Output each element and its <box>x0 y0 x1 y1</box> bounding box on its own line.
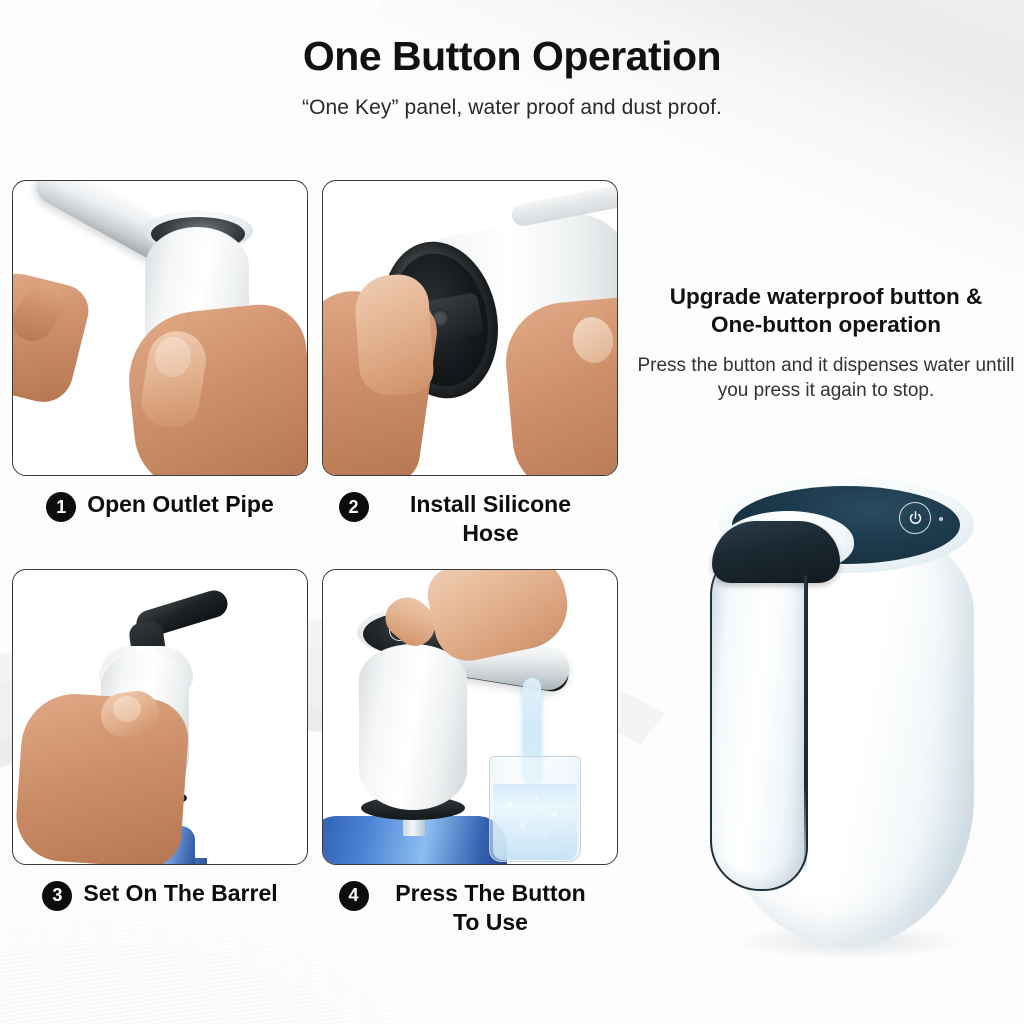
page-subtitle: “One Key” panel, water proof and dust pr… <box>0 96 1024 120</box>
step-caption-1: 1 Open Outlet Pipe <box>12 490 308 522</box>
fingernail <box>113 696 141 722</box>
step-badge-4: 4 <box>339 881 369 911</box>
step-caption-2: 2 Install Silicone Hose <box>322 490 618 549</box>
steps-row-top: 1 Open Outlet Pipe <box>12 180 618 549</box>
power-icon-glyph <box>907 510 924 527</box>
infographic-page: One Button Operation “One Key” panel, wa… <box>0 0 1024 1024</box>
steps-grid: 1 Open Outlet Pipe <box>12 180 618 938</box>
feature-heading-line-2: One-button operation <box>636 311 1016 339</box>
scene-install-silicone-hose <box>323 181 617 475</box>
feature-body: Press the button and it dispenses water … <box>636 353 1016 404</box>
step-photo-4 <box>322 569 618 865</box>
hero-body-seam <box>804 575 807 875</box>
power-icon <box>899 502 931 534</box>
step-photo-1 <box>12 180 308 476</box>
step-badge-1: 1 <box>46 492 76 522</box>
page-title: One Button Operation <box>0 33 1024 80</box>
header: One Button Operation “One Key” panel, wa… <box>0 0 1024 120</box>
hero-folded-spout-arm <box>710 547 808 891</box>
step-caption-3: 3 Set On The Barrel <box>12 879 308 911</box>
step-card-1: 1 Open Outlet Pipe <box>12 180 308 549</box>
water-bubbles <box>497 788 573 848</box>
scene-set-on-barrel <box>13 570 307 864</box>
step-badge-2: 2 <box>339 492 369 522</box>
step-photo-2 <box>322 180 618 476</box>
dispenser-body <box>359 644 467 810</box>
feature-callout: Upgrade waterproof button & One-button o… <box>636 283 1016 403</box>
step-card-4: 4 Press The Button To Use <box>322 569 618 938</box>
hero-spout-head <box>712 521 840 583</box>
feature-heading: Upgrade waterproof button & One-button o… <box>636 283 1016 340</box>
step-badge-3: 3 <box>42 881 72 911</box>
step-card-2: 2 Install Silicone Hose <box>322 180 618 549</box>
scene-press-button <box>323 570 617 864</box>
step-label-3: Set On The Barrel <box>83 879 277 908</box>
left-fingers <box>353 273 435 398</box>
step-label-2: Install Silicone Hose <box>380 490 602 549</box>
feature-heading-line-1: Upgrade waterproof button & <box>636 283 1016 311</box>
step-card-3: 3 Set On The Barrel <box>12 569 308 938</box>
led-indicator <box>939 517 943 521</box>
step-caption-4: 4 Press The Button To Use <box>322 879 618 938</box>
hero-product-image <box>686 455 1016 985</box>
step-photo-3 <box>12 569 308 865</box>
scene-open-outlet-pipe <box>13 181 307 475</box>
steps-row-bottom: 3 Set On The Barrel <box>12 569 618 938</box>
step-label-4: Press The Button To Use <box>380 879 602 938</box>
step-label-1: Open Outlet Pipe <box>87 490 274 519</box>
